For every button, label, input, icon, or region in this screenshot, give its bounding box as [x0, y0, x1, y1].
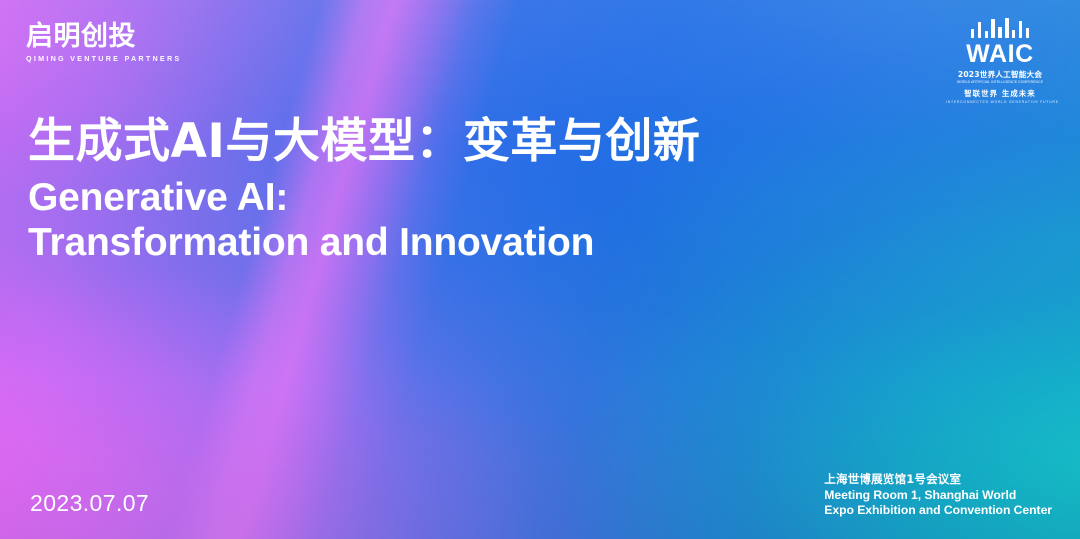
- venue-name-english-line-2: Expo Exhibition and Convention Center: [824, 503, 1052, 519]
- waic-subtitle-english: WORLD ARTIFICIAL INTELLIGENCE CONFERENCE: [946, 81, 1054, 85]
- page-title-english: Generative AI: Transformation and Innova…: [28, 175, 828, 265]
- qiming-logo-chinese-name: 启明创投: [26, 23, 166, 51]
- waic-waveform-bar-2: [978, 22, 981, 38]
- qiming-logo-english-name: QIMING VENTURE PARTNERS: [26, 54, 166, 63]
- waic-waveform-bar-9: [1026, 28, 1029, 38]
- waic-logo: WAIC 2023世界人工智能大会 WORLD ARTIFICIAL INTEL…: [946, 16, 1054, 104]
- venue-name-chinese: 上海世博展览馆1号会议室: [824, 471, 1052, 487]
- waic-waveform-bar-4: [991, 19, 994, 38]
- event-date: 2023.07.07: [30, 490, 149, 517]
- venue-block: 上海世博展览馆1号会议室 Meeting Room 1, Shanghai Wo…: [824, 471, 1052, 519]
- page-title-english-line-1: Generative AI:: [28, 175, 828, 220]
- poster-content: 启明创投 QIMING VENTURE PARTNERS WAIC 2023世界…: [0, 0, 1080, 539]
- qiming-venture-partners-logo: 启明创投 QIMING VENTURE PARTNERS: [26, 23, 166, 63]
- waic-waveform-bar-3: [985, 31, 988, 38]
- waic-subtitle-chinese: 2023世界人工智能大会: [946, 70, 1054, 79]
- title-block: 生成式AI与大模型：变革与创新 Generative AI: Transform…: [28, 116, 828, 265]
- page-title-chinese: 生成式AI与大模型：变革与创新: [28, 116, 828, 169]
- page-title-english-line-2: Transformation and Innovation: [28, 220, 828, 265]
- waic-waveform-bar-6: [1005, 18, 1008, 38]
- waic-waveform-icon: [946, 16, 1054, 38]
- waic-waveform-bar-5: [998, 27, 1001, 38]
- waic-waveform-bar-8: [1019, 21, 1022, 38]
- venue-name-english: Meeting Room 1, Shanghai World Expo Exhi…: [824, 488, 1052, 519]
- waic-tagline-chinese: 智联世界 生成未来: [946, 90, 1054, 99]
- waic-waveform-bar-1: [971, 29, 974, 38]
- waic-wordmark: WAIC: [946, 42, 1054, 67]
- waic-waveform-bar-7: [1012, 30, 1015, 38]
- event-poster: 启明创投 QIMING VENTURE PARTNERS WAIC 2023世界…: [0, 0, 1080, 539]
- waic-tagline-english: INTERCONNECTED WORLD GENERATIVE FUTURE: [946, 100, 1054, 104]
- venue-name-english-line-1: Meeting Room 1, Shanghai World: [824, 488, 1052, 504]
